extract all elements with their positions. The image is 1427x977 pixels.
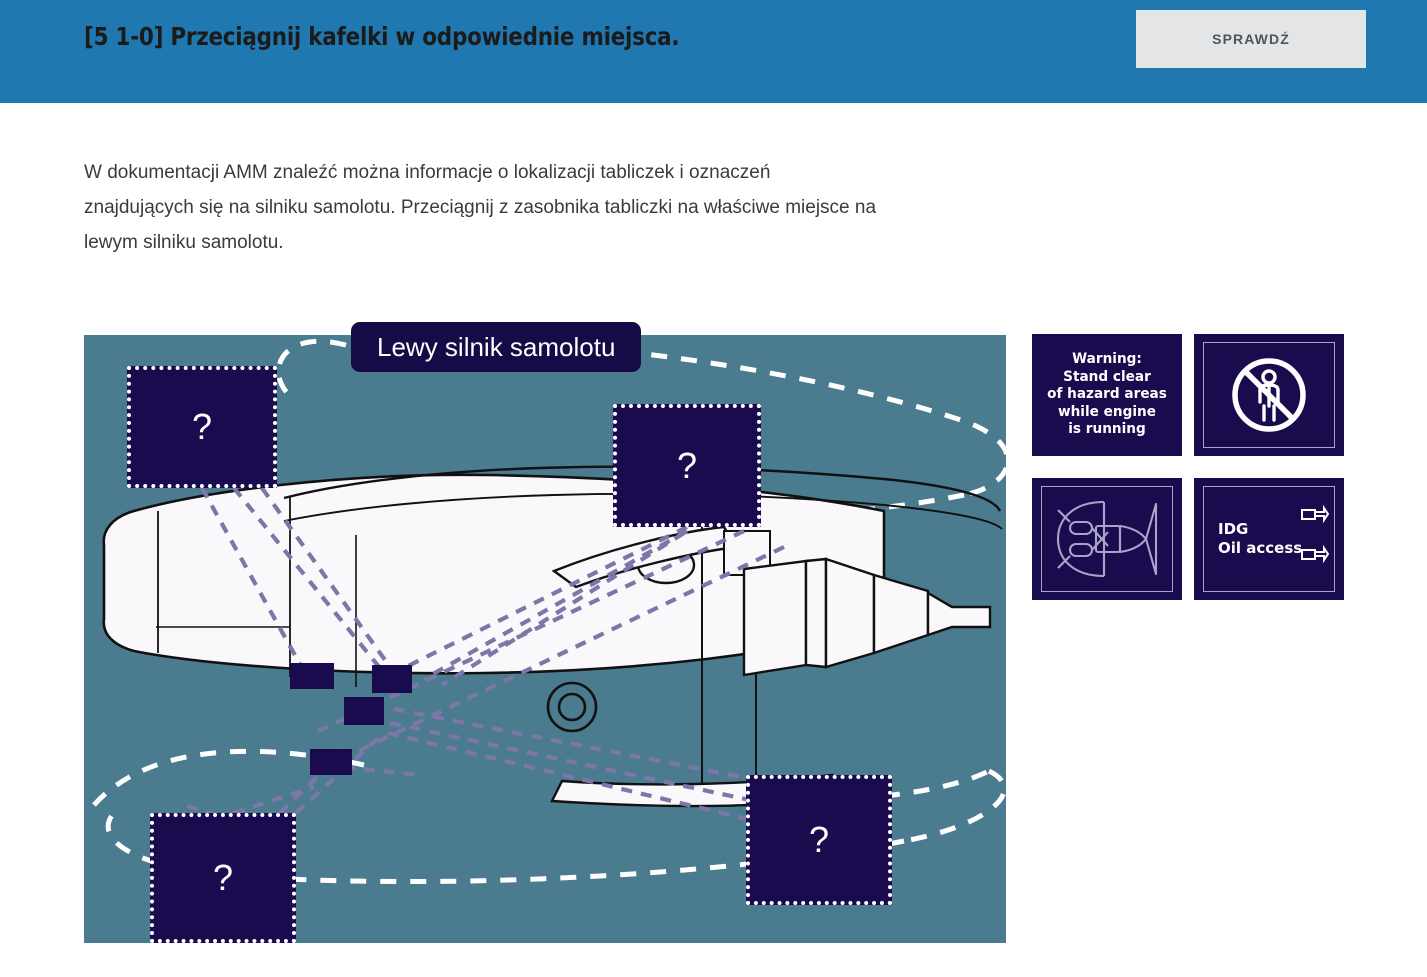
exhaust-tail-cone: [928, 593, 990, 635]
tile-idg-oil-access[interactable]: IDG Oil access: [1194, 478, 1344, 600]
tile-warning-text-label: Warning: Stand clear of hazard areas whi…: [1037, 334, 1178, 456]
tile-tray: Warning: Stand clear of hazard areas whi…: [1032, 334, 1348, 600]
engine-hazard-zone-icon: [1032, 478, 1182, 600]
tile-engine-hazard-zones[interactable]: [1032, 478, 1182, 600]
engine-diagram-canvas: Lewy silnik samolotu ? ? ? ?: [84, 335, 1006, 943]
app-header: [5 1-0] Przeciągnij kafelki w odpowiedni…: [0, 0, 1427, 103]
check-button[interactable]: SPRAWDŹ: [1136, 10, 1366, 68]
engine-caption-label: Lewy silnik samolotu: [351, 322, 641, 372]
marker-3: [344, 697, 384, 725]
dropzone-top-left[interactable]: ?: [127, 366, 277, 488]
dropzone-top-right[interactable]: ?: [613, 404, 761, 527]
fastener-icon: [1194, 478, 1344, 600]
access-port-inner: [559, 694, 585, 720]
tile-warning-text[interactable]: Warning: Stand clear of hazard areas whi…: [1032, 334, 1182, 456]
marker-1: [290, 663, 334, 689]
access-port-outer: [548, 683, 596, 731]
dropzone-bottom-right[interactable]: ?: [746, 775, 892, 905]
placement-markers: [290, 663, 412, 775]
page-title: [5 1-0] Przeciągnij kafelki w odpowiedni…: [84, 22, 679, 51]
engine-body: [104, 467, 1002, 806]
dropzone-bottom-left[interactable]: ?: [150, 813, 296, 943]
instruction-text: W dokumentacji AMM znaleźć można informa…: [84, 155, 884, 260]
tile-no-pedestrian[interactable]: [1194, 334, 1344, 456]
marker-2: [372, 665, 412, 693]
no-pedestrian-icon: [1194, 334, 1344, 456]
marker-4: [310, 749, 352, 775]
